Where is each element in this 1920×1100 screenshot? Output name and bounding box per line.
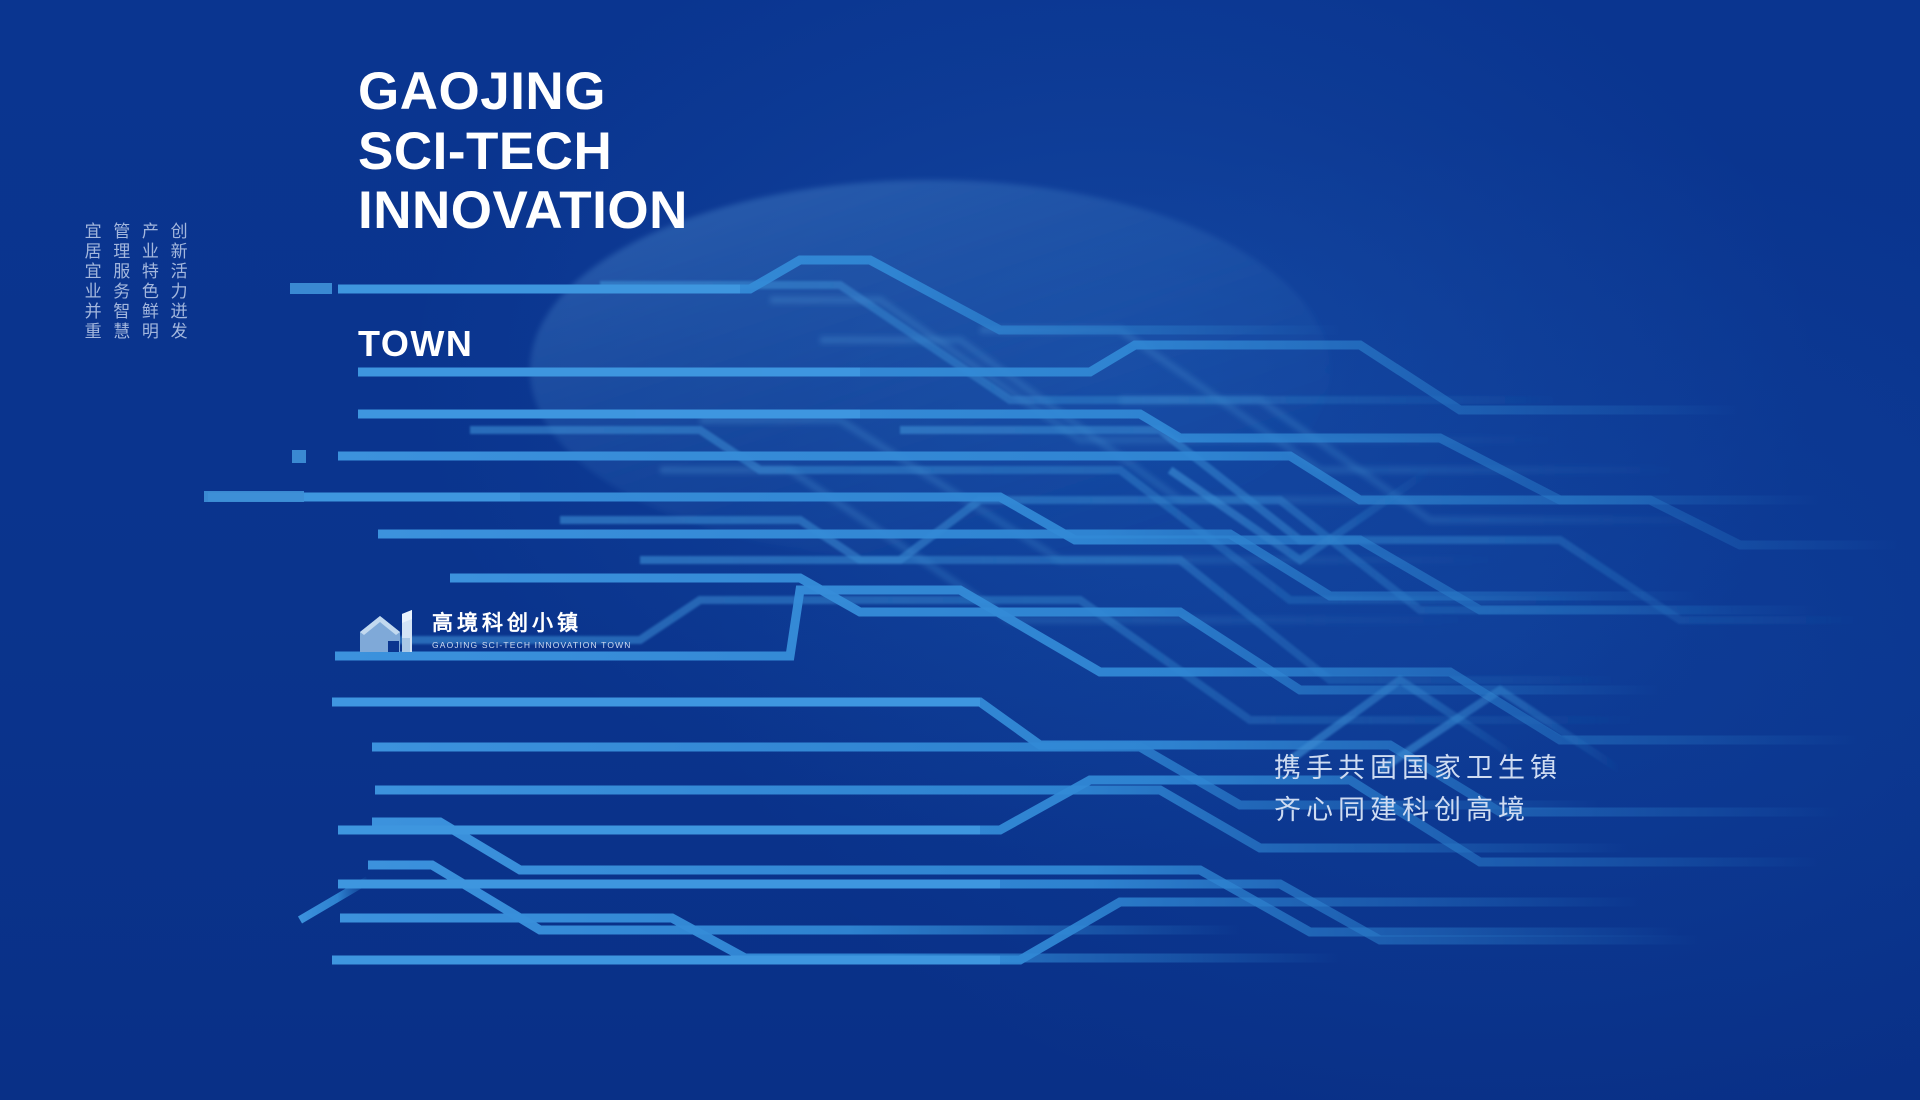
brand-name-cn: 高境科创小镇 (432, 612, 632, 635)
headline-line-1: GAOJING (358, 62, 1058, 122)
poster-canvas: 创新活力迸发 产业特色鲜明 管理服务智慧 宜居宜业并重 GAOJING SCI-… (0, 0, 1920, 1100)
bottom-slogan-line-2: 齐心同建科创高境 (1274, 790, 1562, 832)
bottom-right-slogan: 携手共固国家卫生镇 齐心同建科创高境 (1274, 748, 1562, 832)
brand-text-stack: 高境科创小镇 GAOJING SCI-TECH INNOVATION TOWN (432, 612, 632, 649)
bottom-slogan-line-1: 携手共固国家卫生镇 (1274, 748, 1562, 790)
brand-logo-lockup: 高境科创小镇 GAOJING SCI-TECH INNOVATION TOWN (358, 608, 632, 654)
headline-town-word: TOWN (358, 323, 473, 365)
headline-line-2: SCI-TECH (358, 122, 1058, 182)
vertical-slogan-block: 创新活力迸发 产业特色鲜明 管理服务智慧 宜居宜业并重 (78, 222, 189, 342)
house-building-logo-icon (358, 608, 420, 654)
vertical-slogan-column-2: 产业特色鲜明 (135, 222, 160, 342)
vertical-slogan-column-1: 创新活力迸发 (164, 222, 189, 342)
vertical-slogan-column-3: 管理服务智慧 (107, 222, 132, 342)
brand-name-en: GAOJING SCI-TECH INNOVATION TOWN (432, 640, 632, 650)
headline-block: GAOJING SCI-TECH INNOVATION (358, 62, 1058, 241)
left-edge-markers (204, 283, 332, 502)
vertical-slogan-column-4: 宜居宜业并重 (78, 222, 103, 342)
headline-line-3: INNOVATION (358, 181, 1058, 241)
